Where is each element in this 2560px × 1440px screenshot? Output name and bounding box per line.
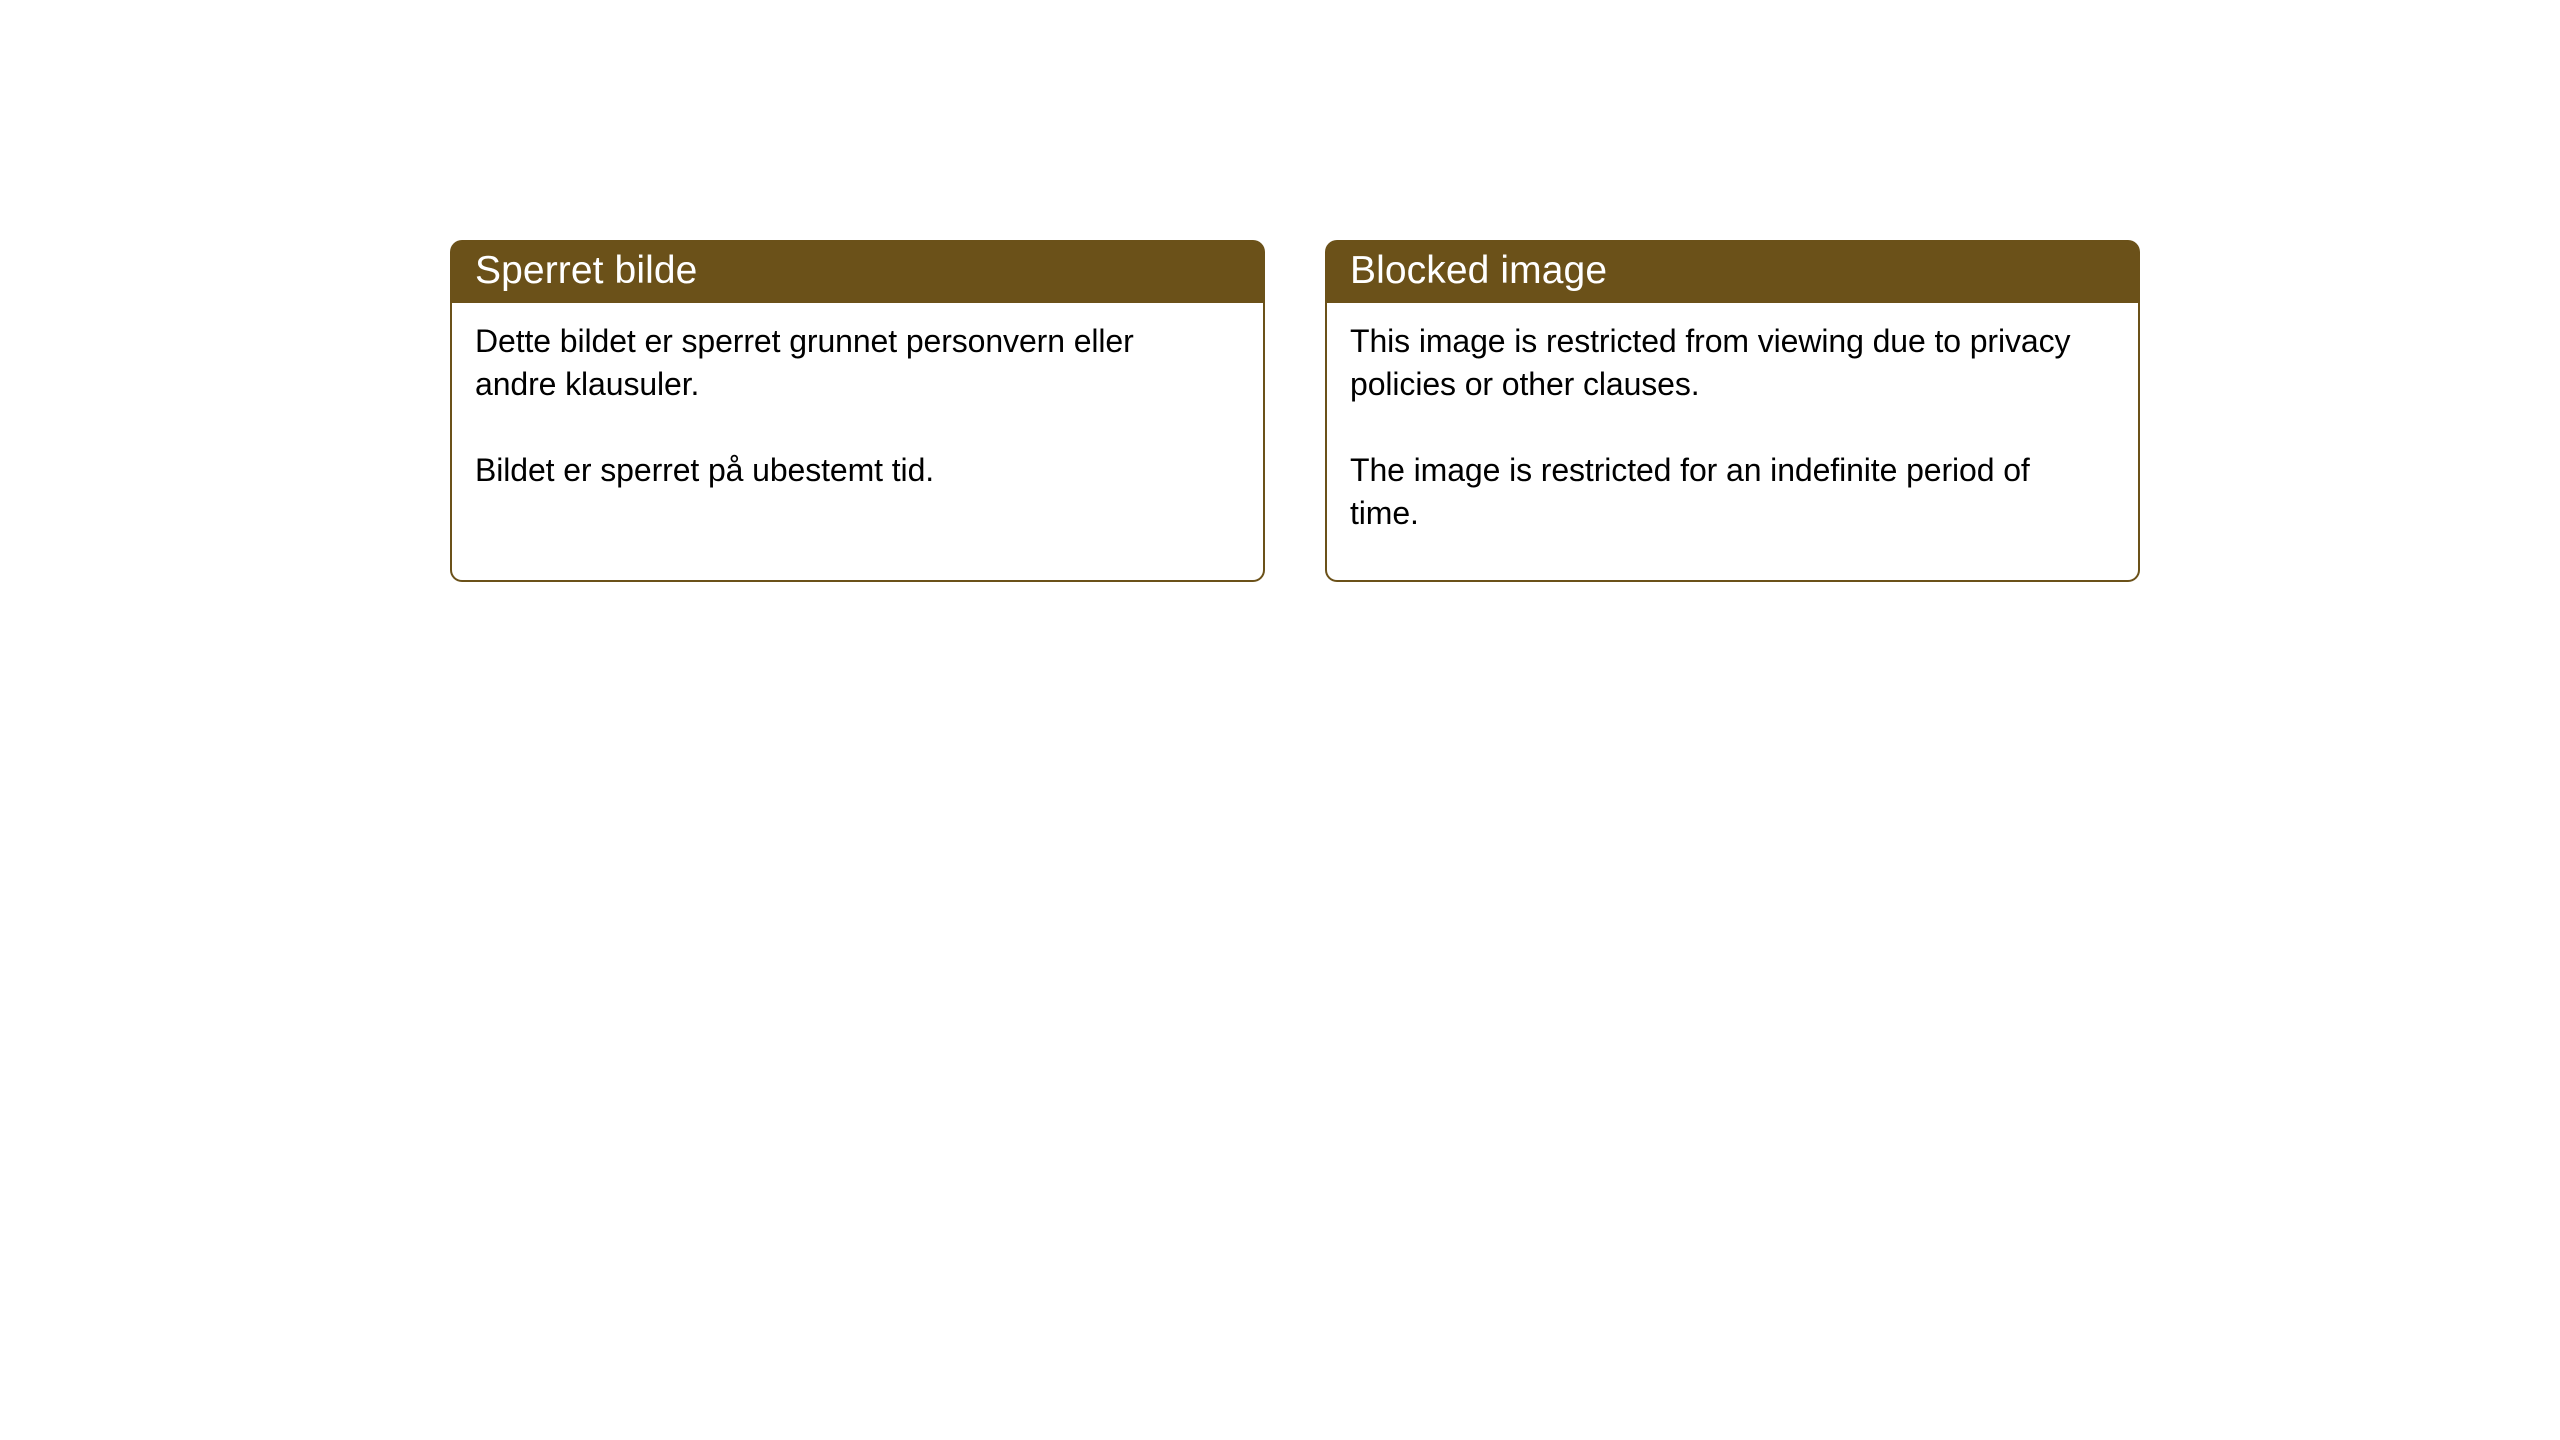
card-header-english: Blocked image bbox=[1325, 240, 2140, 303]
card-paragraph-norwegian-2: Bildet er sperret på ubestemt tid. bbox=[475, 449, 1215, 492]
blocked-image-card-norwegian: Sperret bilde Dette bildet er sperret gr… bbox=[450, 240, 1265, 582]
card-paragraph-norwegian-1: Dette bildet er sperret grunnet personve… bbox=[475, 320, 1215, 406]
card-body-norwegian: Dette bildet er sperret grunnet personve… bbox=[450, 303, 1265, 582]
card-header-norwegian: Sperret bilde bbox=[450, 240, 1265, 303]
blocked-image-notice-area: Sperret bilde Dette bildet er sperret gr… bbox=[450, 240, 2140, 582]
card-title-norwegian: Sperret bilde bbox=[475, 251, 697, 290]
card-paragraph-english-1: This image is restricted from viewing du… bbox=[1350, 320, 2090, 406]
blocked-image-card-english: Blocked image This image is restricted f… bbox=[1325, 240, 2140, 582]
card-title-english: Blocked image bbox=[1350, 251, 1607, 290]
card-paragraph-english-2: The image is restricted for an indefinit… bbox=[1350, 449, 2090, 535]
card-body-english: This image is restricted from viewing du… bbox=[1325, 303, 2140, 582]
